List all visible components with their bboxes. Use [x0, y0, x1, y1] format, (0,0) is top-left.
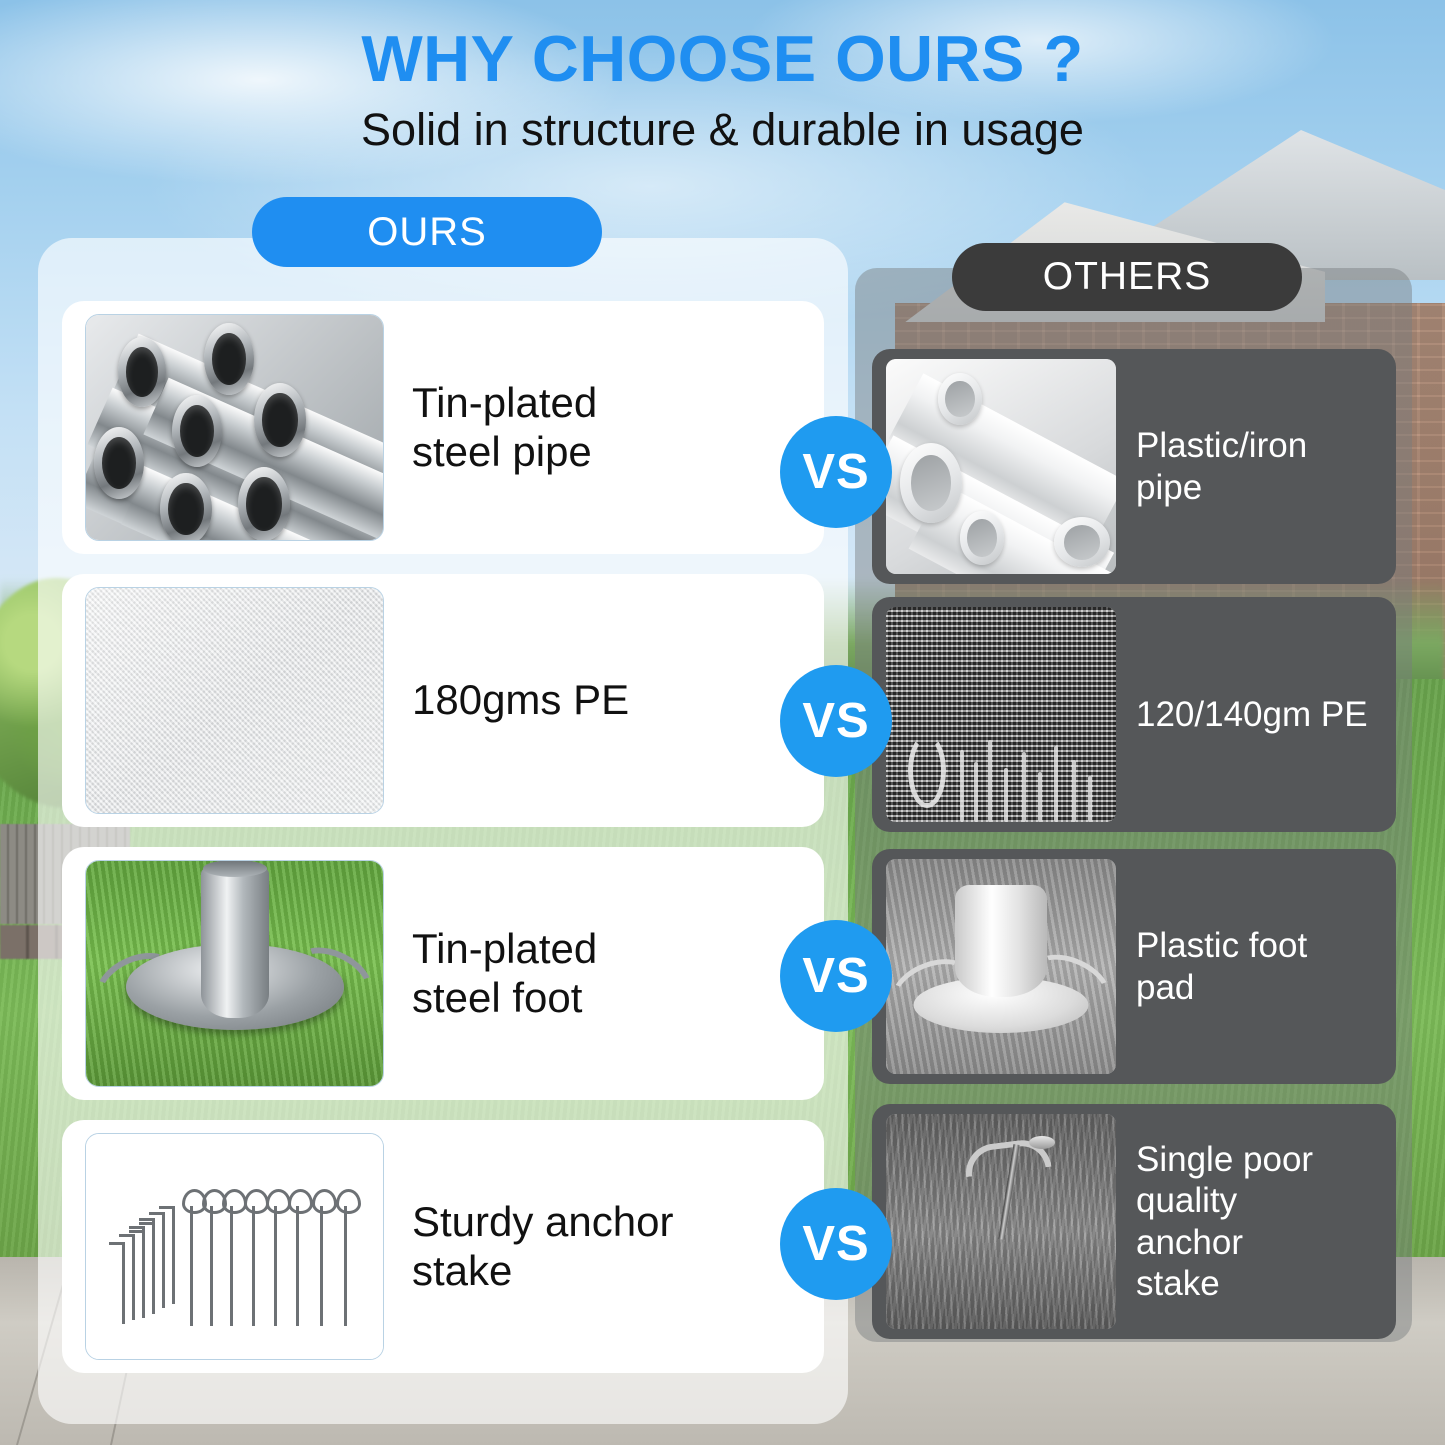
ours-row-3: Tin-plated steel foot: [62, 847, 824, 1100]
ours-row-1-label: Tin-plated steel pipe: [412, 379, 597, 476]
ours-column-badge: OURS: [252, 197, 602, 267]
others-row-1-label: Plastic/iron pipe: [1136, 425, 1307, 508]
plastic-collar: [955, 885, 1047, 997]
ours-row-2-label: 180gms PE: [412, 676, 629, 725]
anchor-stakes-image: [85, 1133, 384, 1360]
mesh-fabric-image: [886, 607, 1116, 822]
others-row-3: Plastic foot pad: [872, 849, 1396, 1084]
page-subtitle: Solid in structure & durable in usage: [0, 105, 1445, 155]
pvc-pipes-image: [886, 359, 1116, 574]
ours-row-3-label: Tin-plated steel foot: [412, 925, 597, 1022]
others-row-4-label: Single poor quality anchor stake: [1136, 1139, 1313, 1304]
others-row-3-label: Plastic foot pad: [1136, 925, 1307, 1008]
stake-cap: [1029, 1136, 1055, 1149]
pe-fabric-image: [85, 587, 384, 814]
others-column-badge: OTHERS: [952, 243, 1302, 311]
ours-row-1: Tin-plated steel pipe: [62, 301, 824, 554]
ours-row-4-label: Sturdy anchor stake: [412, 1198, 673, 1295]
poor-anchor-stake-image: [886, 1114, 1116, 1329]
vs-badge-2: VS: [780, 665, 892, 777]
header: WHY CHOOSE OURS ? Solid in structure & d…: [0, 26, 1445, 155]
ours-row-2: 180gms PE: [62, 574, 824, 827]
steel-foot-image: [85, 860, 384, 1087]
vs-badge-4: VS: [780, 1188, 892, 1300]
others-row-4: Single poor quality anchor stake: [872, 1104, 1396, 1339]
steel-pipes-image: [85, 314, 384, 541]
others-row-2-label: 120/140gm PE: [1136, 694, 1368, 735]
vs-badge-3: VS: [780, 920, 892, 1032]
steel-pole: [201, 868, 269, 1018]
plastic-foot-pad-image: [886, 859, 1116, 1074]
frayed-loop: [908, 734, 946, 808]
others-row-1: Plastic/iron pipe: [872, 349, 1396, 584]
vs-badge-1: VS: [780, 416, 892, 528]
page-title: WHY CHOOSE OURS ?: [0, 26, 1445, 91]
ours-row-4: Sturdy anchor stake: [62, 1120, 824, 1373]
others-row-2: 120/140gm PE: [872, 597, 1396, 832]
